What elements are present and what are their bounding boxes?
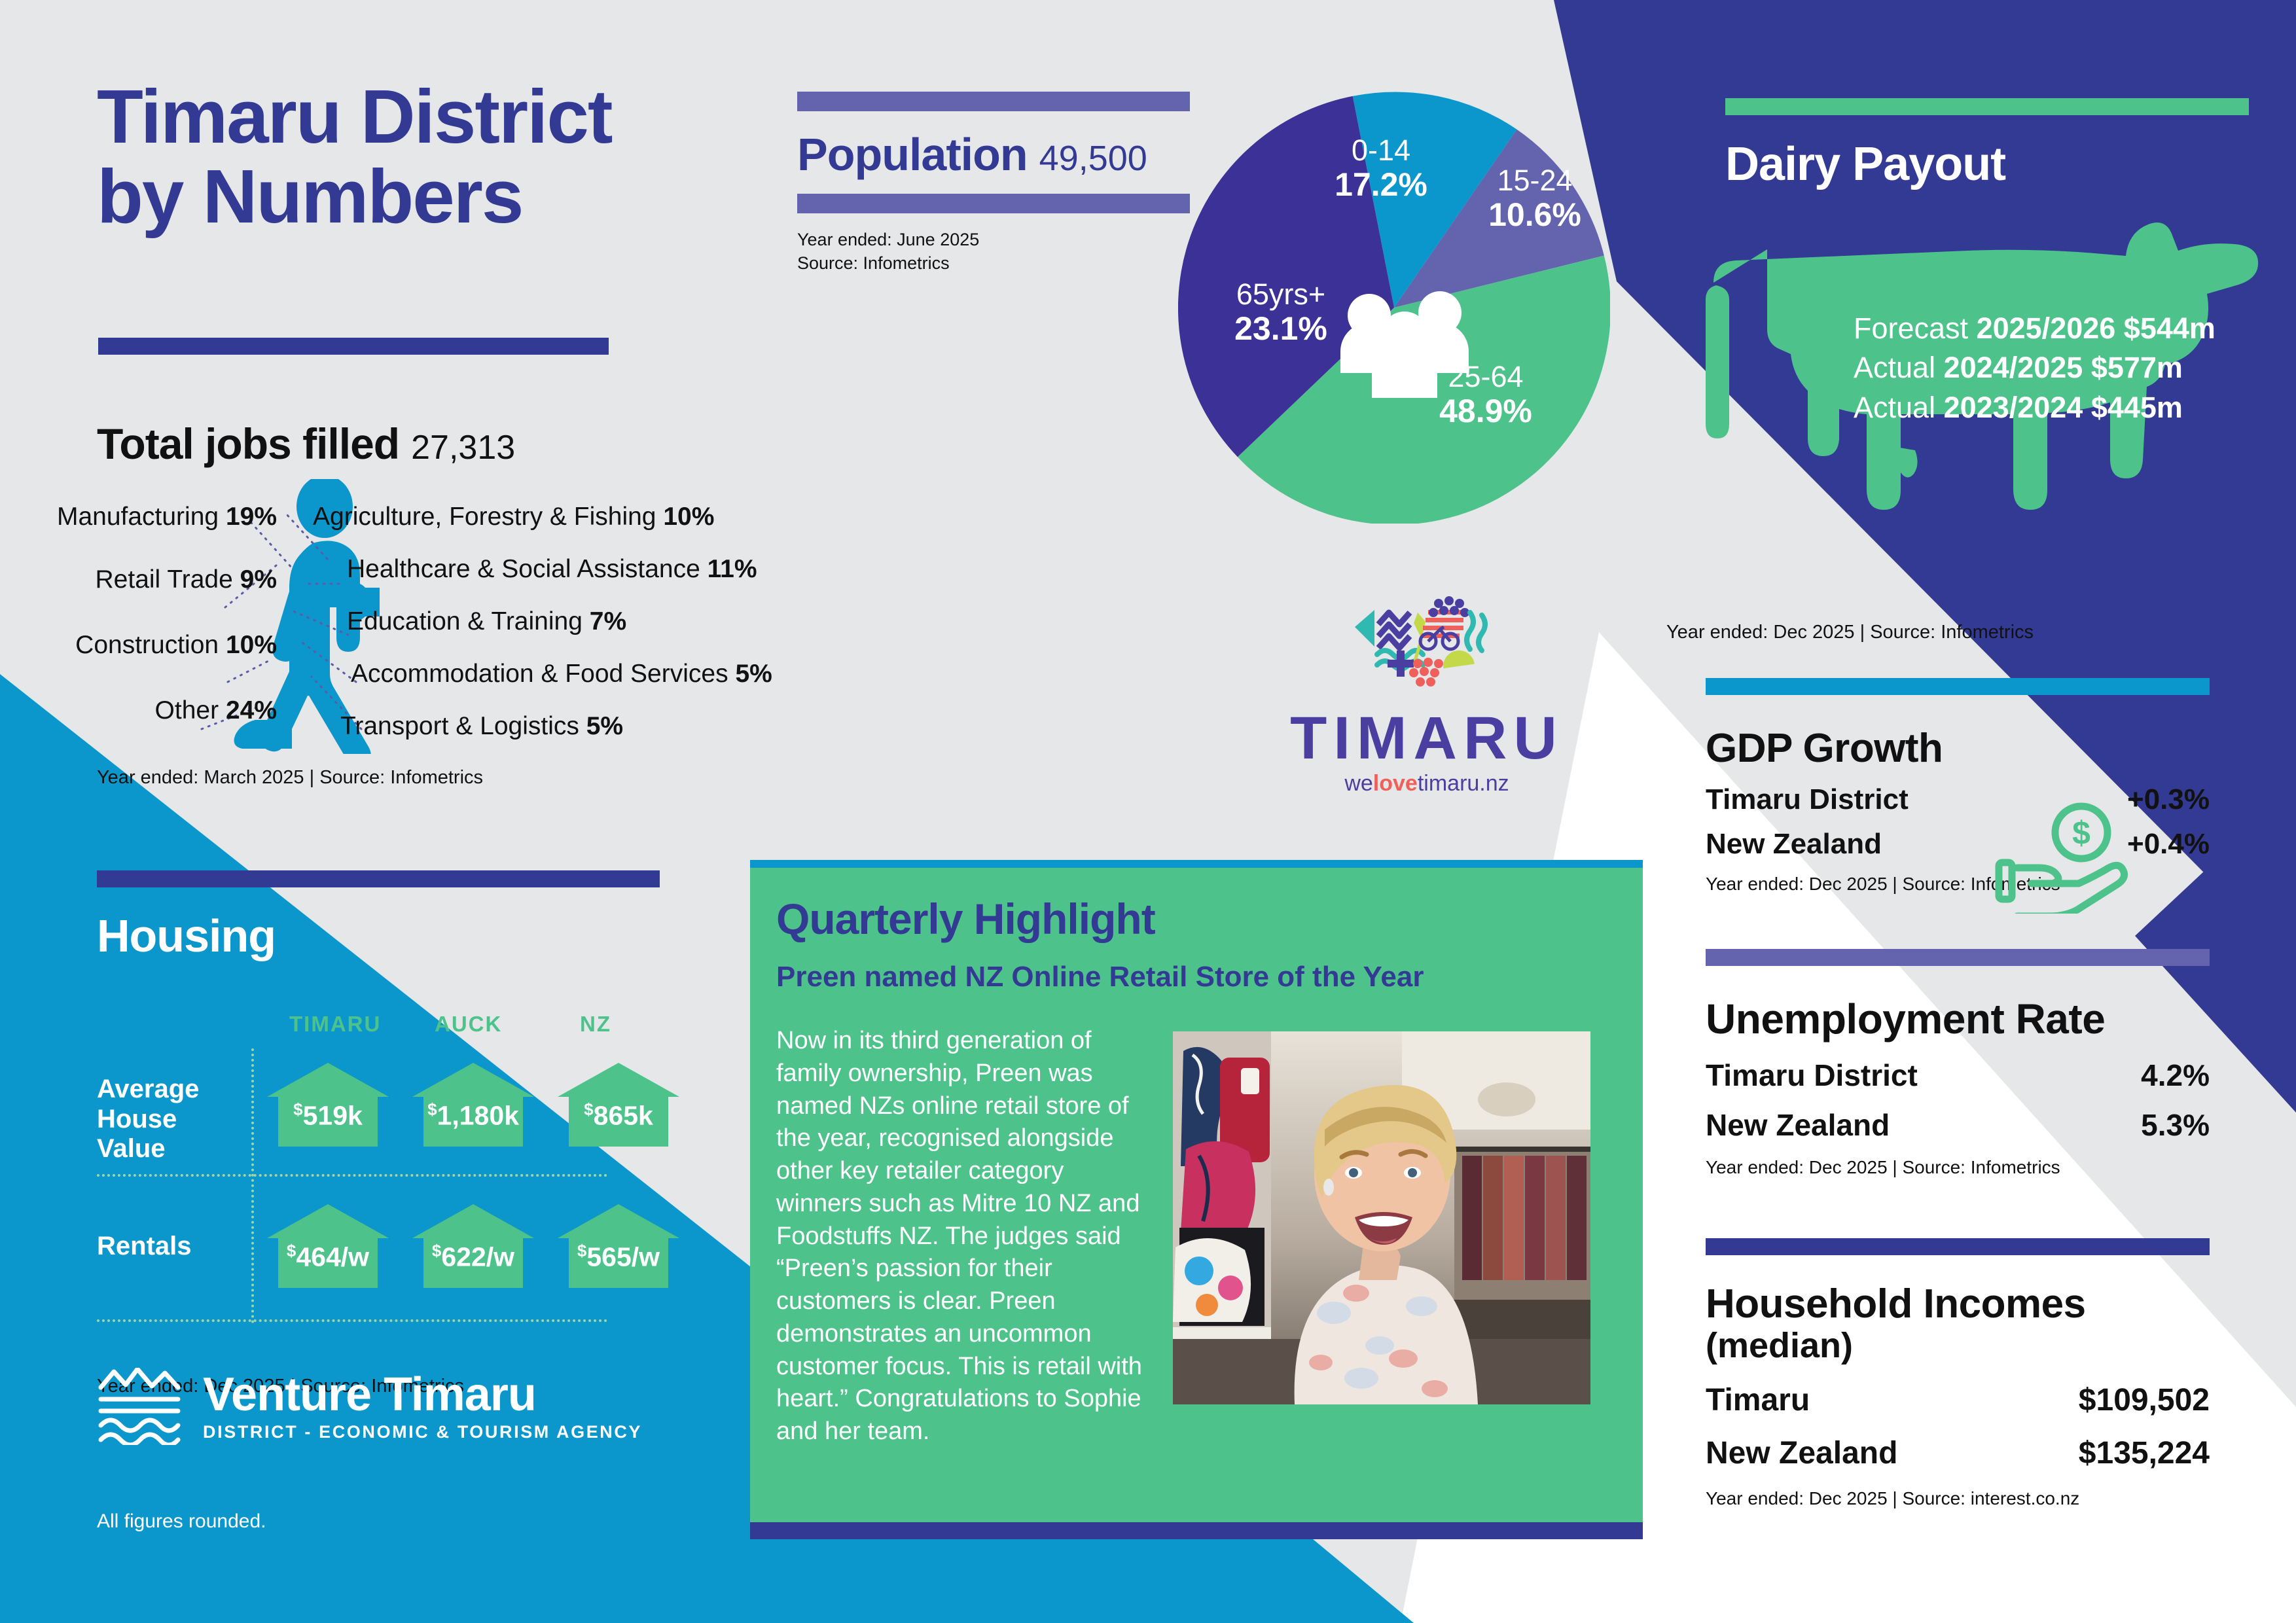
population-line: Population 49,500 [797, 128, 1190, 181]
population-label: Population [797, 128, 1028, 181]
cow-icon [1686, 209, 2262, 654]
income-title: Household Incomes [1706, 1283, 2255, 1327]
venture-subtitle: DISTRICT - ECONOMIC & TOURISM AGENCY [203, 1422, 642, 1442]
dairy-row-actual-2024-2025: Actual 2024/2025 $577m [1854, 348, 2215, 387]
income-row-timaru: Timaru $109,502 [1706, 1382, 2210, 1418]
quarterly-top-bar [750, 860, 1643, 868]
job-item-retail-trade: Retail Trade 9% [96, 565, 278, 594]
house-icon-rent-nz: $565/w [558, 1204, 679, 1288]
jobs-block: Total jobs filled 27,313 [97, 419, 1157, 760]
quarterly-subtitle: Preen named NZ Online Retail Store of th… [776, 961, 1424, 993]
house-value-label: $565/w [558, 1241, 679, 1273]
gdp-source: Year ended: Dec 2025 | Source: Infometri… [1706, 874, 2255, 895]
venture-mountains-waves-icon [97, 1368, 183, 1445]
gdp-rule [1706, 678, 2210, 695]
housing-col-nz: NZ [580, 1012, 611, 1037]
tagline-domain: timaru.nz [1418, 771, 1509, 796]
timaru-wordmark: TIMARU [1263, 708, 1590, 768]
house-icon-rent-timaru: $464/w [267, 1204, 389, 1288]
venture-name: Venture Timaru [203, 1371, 642, 1418]
job-item-agriculture: Agriculture, Forestry & Fishing 10% [313, 503, 714, 531]
timaru-brand-logo: TIMARU welovetimaru.nz [1263, 590, 1590, 796]
income-subtitle: (median) [1706, 1327, 2255, 1365]
house-value-label: $464/w [267, 1241, 389, 1273]
photo-woman-in-clothing-store [1173, 1031, 1590, 1404]
job-item-transport: Transport & Logistics 5% [340, 712, 623, 741]
housing-col-timaru: TIMARU [289, 1012, 381, 1037]
job-item-manufacturing: Manufacturing 19% [57, 503, 277, 531]
house-icon-rent-auck: $622/w [412, 1204, 534, 1288]
dairy-source: Year ended: Dec 2025 | Source: Infometri… [1666, 622, 2034, 643]
timaru-heart-mosaic-icon [1348, 590, 1505, 702]
venture-wordmark: Venture Timaru DISTRICT - ECONOMIC & TOU… [203, 1371, 642, 1442]
unemployment-row-nz: New Zealand 5.3% [1706, 1107, 2210, 1143]
title-underline-rule [98, 338, 609, 355]
tagline-we: we [1344, 771, 1372, 796]
house-icon-avg-timaru: $519k [267, 1063, 389, 1147]
house-roof [267, 1204, 389, 1238]
job-item-other: Other 24% [155, 696, 277, 725]
housing-col-auck: AUCK [435, 1012, 502, 1037]
job-item-construction: Construction 10% [75, 631, 277, 660]
page-title: Timaru District by Numbers [97, 77, 817, 237]
income-source: Year ended: Dec 2025 | Source: interest.… [1706, 1488, 2255, 1509]
pie-label-15-24: 15-24 10.6% [1453, 165, 1617, 232]
money-in-hand-icon: $ [1994, 802, 2131, 914]
gdp-title: GDP Growth [1706, 725, 2255, 772]
population-source-line1: Year ended: June 2025 [797, 228, 1190, 251]
quarterly-highlight-panel: Quarterly Highlight Preen named NZ Onlin… [750, 868, 1643, 1522]
gdp-row-nz: New Zealand +0.4% [1706, 828, 2210, 861]
housing-row-label-avg-house-value: AverageHouseValue [97, 1075, 199, 1164]
house-roof [267, 1063, 389, 1097]
unemployment-rule [1706, 949, 2210, 966]
page-title-line2: by Numbers [97, 157, 817, 237]
house-icon-avg-auck: $1,180k [412, 1063, 534, 1147]
dairy-title: Dairy Payout [1725, 137, 2296, 191]
tagline-love: love [1373, 771, 1418, 796]
housing-row-label-rentals: Rentals [97, 1232, 192, 1262]
income-rule [1706, 1238, 2210, 1255]
house-value-label: $1,180k [412, 1099, 534, 1132]
footnote-all-figures-rounded: All figures rounded. [97, 1510, 266, 1533]
unemployment-block: Unemployment Rate Timaru District 4.2% N… [1706, 949, 2255, 1178]
population-source: Year ended: June 2025 Source: Infometric… [797, 228, 1190, 276]
population-rule-top [797, 92, 1190, 111]
housing-divider-bottom [97, 1319, 607, 1322]
house-value-label: $519k [267, 1099, 389, 1132]
house-roof [558, 1063, 679, 1097]
pie-label-25-64: 25-64 48.9% [1401, 361, 1571, 429]
dairy-row-forecast: Forecast 2025/2026 $544m [1854, 309, 2215, 348]
unemployment-title: Unemployment Rate [1706, 995, 2255, 1043]
house-roof [412, 1063, 534, 1097]
housing-divider-vertical [251, 1048, 254, 1323]
svg-text:$: $ [2072, 815, 2090, 851]
house-value-label: $622/w [412, 1241, 534, 1273]
timaru-tagline: welovetimaru.nz [1263, 771, 1590, 796]
population-source-line2: Source: Infometrics [797, 251, 1190, 275]
gdp-row-timaru: Timaru District +0.3% [1706, 783, 2210, 816]
housing-divider-mid [97, 1174, 607, 1177]
population-value: 49,500 [1039, 138, 1147, 179]
quarterly-bottom-bar [750, 1522, 1643, 1539]
job-item-accommodation: Accommodation & Food Services 5% [351, 660, 772, 688]
housing-block: Housing TIMARU AUCK NZ AverageHouseValue… [97, 870, 673, 1012]
pie-label-65plus: 65yrs+ 23.1% [1193, 279, 1369, 346]
pie-label-0-14: 0-14 17.2% [1296, 135, 1466, 202]
income-row-nz: New Zealand $135,224 [1706, 1435, 2210, 1471]
quarterly-photo [1173, 1031, 1590, 1404]
dairy-row-actual-2023-2024: Actual 2023/2024 $445m [1854, 388, 2215, 427]
jobs-heading: Total jobs filled 27,313 [97, 419, 1157, 469]
population-rule-bottom [797, 194, 1190, 213]
dairy-rows: Forecast 2025/2026 $544m Actual 2024/202… [1854, 309, 2215, 427]
household-incomes-block: Household Incomes (median) Timaru $109,5… [1706, 1238, 2255, 1509]
housing-rule [97, 870, 660, 887]
house-icon-avg-nz: $865k [558, 1063, 679, 1147]
jobs-diagram: Manufacturing 19% Retail Trade 9% Constr… [97, 486, 1157, 760]
unemployment-row-timaru: Timaru District 4.2% [1706, 1058, 2210, 1093]
population-block: Population 49,500 Year ended: June 2025 … [797, 92, 1190, 276]
gdp-growth-block: GDP Growth Timaru District +0.3% New Zea… [1706, 678, 2255, 895]
job-item-healthcare: Healthcare & Social Assistance 11% [347, 555, 757, 584]
quarterly-title: Quarterly Highlight [776, 894, 1155, 944]
dairy-payout-block: Dairy Payout Forecast 2025/2026 $544m Ac… [1725, 98, 2296, 191]
page-title-line1: Timaru District [97, 77, 817, 157]
job-item-education: Education & Training 7% [347, 607, 626, 636]
jobs-heading-label: Total jobs filled [97, 419, 399, 469]
population-age-pie-chart: 0-14 17.2% 15-24 10.6% 25-64 48.9% 65yrs… [1178, 92, 1610, 524]
dairy-rule [1725, 98, 2249, 115]
jobs-source: Year ended: March 2025 | Source: Infomet… [97, 767, 483, 789]
house-value-label: $865k [558, 1099, 679, 1132]
house-roof [412, 1204, 534, 1238]
unemployment-source: Year ended: Dec 2025 | Source: Infometri… [1706, 1157, 2255, 1178]
housing-title: Housing [97, 910, 673, 962]
venture-timaru-logo: Venture Timaru DISTRICT - ECONOMIC & TOU… [97, 1368, 642, 1445]
quarterly-body-text: Now in its third generation of family ow… [776, 1025, 1149, 1448]
house-roof [558, 1204, 679, 1238]
jobs-total-value: 27,313 [411, 428, 515, 467]
infographic-page: Timaru District by Numbers Population 49… [0, 0, 2296, 1623]
